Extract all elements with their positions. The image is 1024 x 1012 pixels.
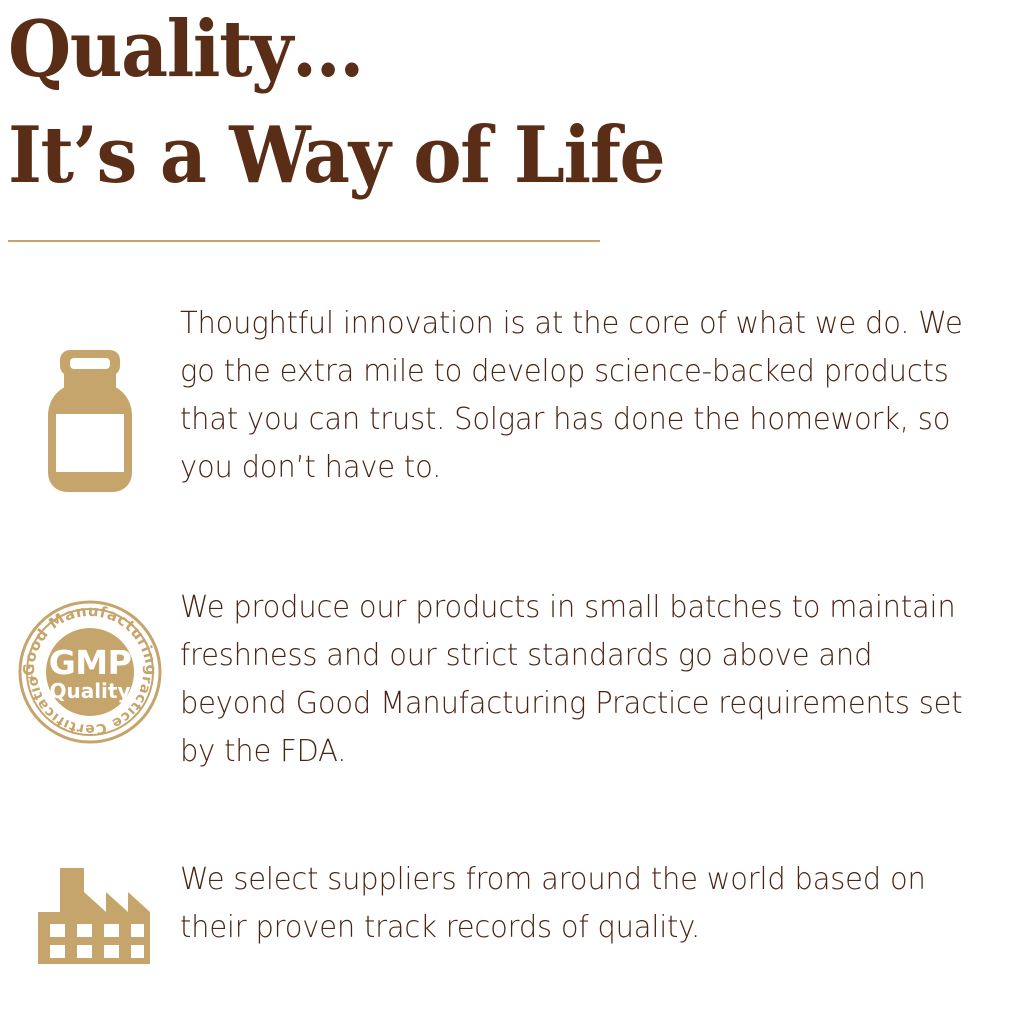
list-item: Thoughtful innovation is at the core of … bbox=[0, 300, 1024, 496]
factory-icon bbox=[30, 868, 150, 972]
header-divider bbox=[8, 240, 600, 242]
gmp-center-title: GMP bbox=[49, 643, 132, 682]
feature-text: We select suppliers from around the worl… bbox=[180, 856, 993, 952]
gmp-center-subtitle: Quality bbox=[49, 679, 130, 703]
feature-text: We produce our products in small batches… bbox=[180, 584, 993, 776]
feature-text: Thoughtful innovation is at the core of … bbox=[180, 300, 993, 492]
feature-icon-slot bbox=[0, 300, 180, 496]
gmp-star-left-icon: ★ bbox=[27, 673, 37, 685]
headline-line-1: Quality… bbox=[8, 2, 938, 98]
list-item: We select suppliers from around the worl… bbox=[0, 856, 1024, 972]
headline-line-2: It’s a Way of Life bbox=[8, 108, 938, 204]
gmp-quality-seal-icon: Good Manufacturing Practice Certificatio… bbox=[16, 598, 164, 746]
feature-icon-slot: Good Manufacturing Practice Certificatio… bbox=[0, 584, 180, 746]
feature-icon-slot bbox=[0, 856, 180, 972]
feature-list: Thoughtful innovation is at the core of … bbox=[0, 300, 1024, 1012]
page-title: Quality… It’s a Way of Life bbox=[8, 2, 1008, 204]
supplement-bottle-icon bbox=[34, 346, 146, 496]
quality-page: Quality… It’s a Way of Life bbox=[0, 0, 1024, 1001]
list-item: Good Manufacturing Practice Certificatio… bbox=[0, 584, 1024, 776]
